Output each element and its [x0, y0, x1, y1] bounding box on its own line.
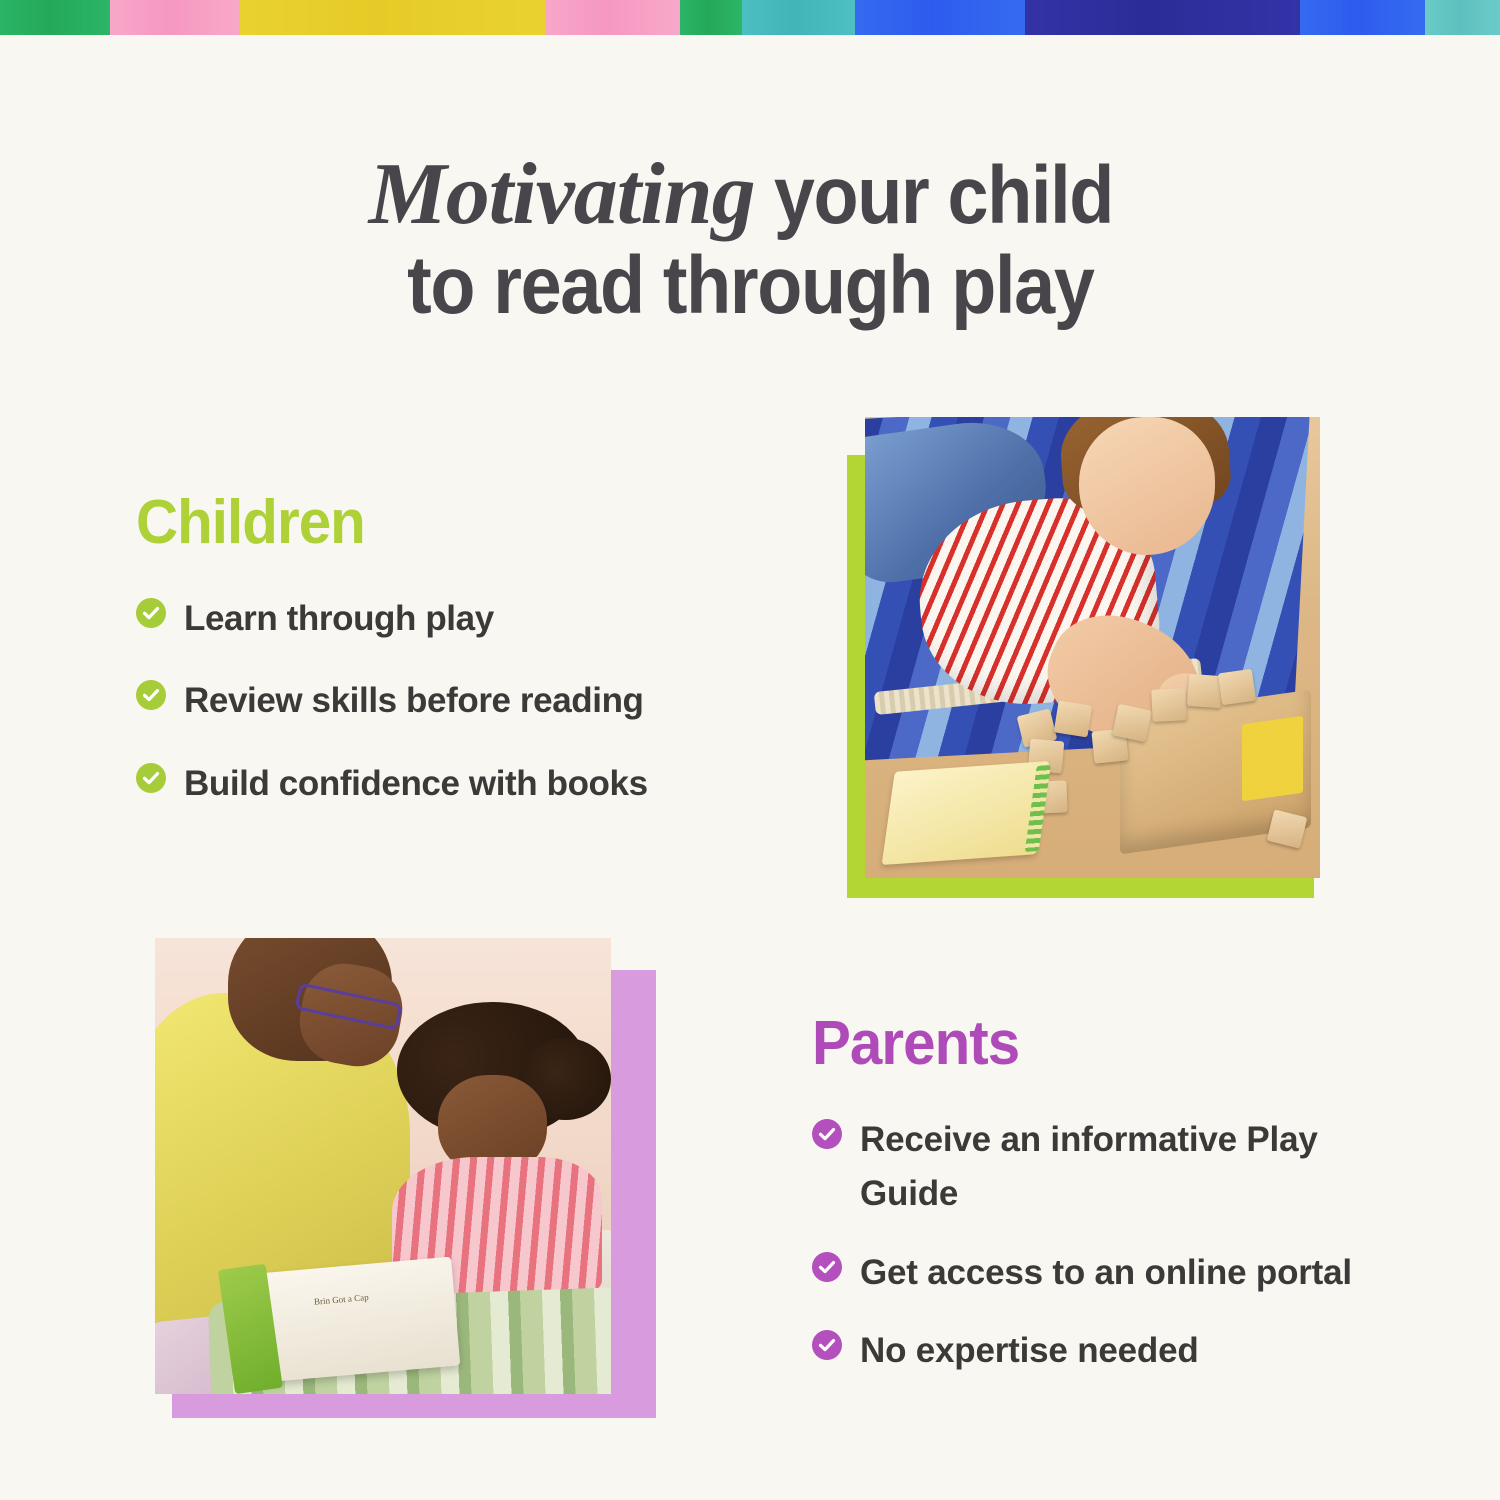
check-circle-icon: [812, 1119, 842, 1149]
picture-book: Brin Got a Cap: [233, 1257, 461, 1385]
color-swatch-2: [240, 0, 545, 35]
color-swatch-8: [1300, 0, 1425, 35]
check-circle-icon: [812, 1330, 842, 1360]
page-title-line-2-text: to read through play: [407, 242, 1093, 330]
book-title: Brin Got a Cap: [314, 1293, 369, 1308]
section-parents-heading: Parents: [812, 1008, 1019, 1079]
list-item-label: Build confidence with books: [184, 757, 648, 811]
letter-tile: [1151, 688, 1187, 722]
list-item: Learn through play: [136, 592, 756, 646]
color-swatch-5: [742, 0, 855, 35]
check-circle-icon: [812, 1252, 842, 1282]
letter-tile: [1218, 668, 1256, 705]
page-title-line-1: Motivatingyour child: [0, 148, 1500, 242]
parents-photo-scene: Brin Got a Cap: [155, 938, 611, 1394]
check-circle-icon: [136, 763, 166, 793]
section-children: Children Learn through play Review skill…: [136, 487, 756, 839]
section-children-heading: Children: [136, 487, 365, 558]
children-photo-card: [840, 410, 1330, 910]
page-title-emphasis: Motivating: [369, 146, 755, 243]
list-item-label: Get access to an online portal: [860, 1246, 1352, 1300]
play-guide-booklet: [881, 761, 1048, 865]
list-item-label: Receive an informative Play Guide: [860, 1113, 1330, 1222]
page-title-line-1-rest: your child: [773, 152, 1112, 240]
check-circle-icon: [136, 598, 166, 628]
children-photo: [865, 417, 1320, 878]
list-item: Build confidence with books: [136, 757, 756, 811]
list-item: No expertise needed: [812, 1324, 1432, 1378]
list-item: Get access to an online portal: [812, 1246, 1432, 1300]
list-item-label: No expertise needed: [860, 1324, 1199, 1378]
color-swatch-7: [1025, 0, 1300, 35]
color-swatch-1: [110, 0, 240, 35]
children-photo-scene: [865, 417, 1320, 878]
page-title: Motivatingyour child to read through pla…: [0, 148, 1500, 330]
list-item-label: Review skills before reading: [184, 674, 644, 728]
letter-tile: [1054, 700, 1093, 737]
toy-yellow-panel: [1242, 715, 1303, 801]
check-circle-icon: [136, 680, 166, 710]
parents-photo-card: Brin Got a Cap: [148, 930, 638, 1422]
painted-color-strip: [0, 0, 1500, 35]
color-swatch-6: [855, 0, 1025, 35]
color-swatch-3: [545, 0, 680, 35]
parents-photo: Brin Got a Cap: [155, 938, 611, 1394]
section-parents: Parents Receive an informative Play Guid…: [812, 1008, 1432, 1402]
page-title-line-2: to read through play: [0, 242, 1500, 330]
list-item-label: Learn through play: [184, 592, 494, 646]
list-item: Review skills before reading: [136, 674, 756, 728]
color-swatch-9: [1425, 0, 1500, 35]
color-swatch-0: [0, 0, 110, 35]
child-head: [1079, 417, 1216, 555]
list-item: Receive an informative Play Guide: [812, 1113, 1432, 1222]
color-swatch-4: [680, 0, 742, 35]
